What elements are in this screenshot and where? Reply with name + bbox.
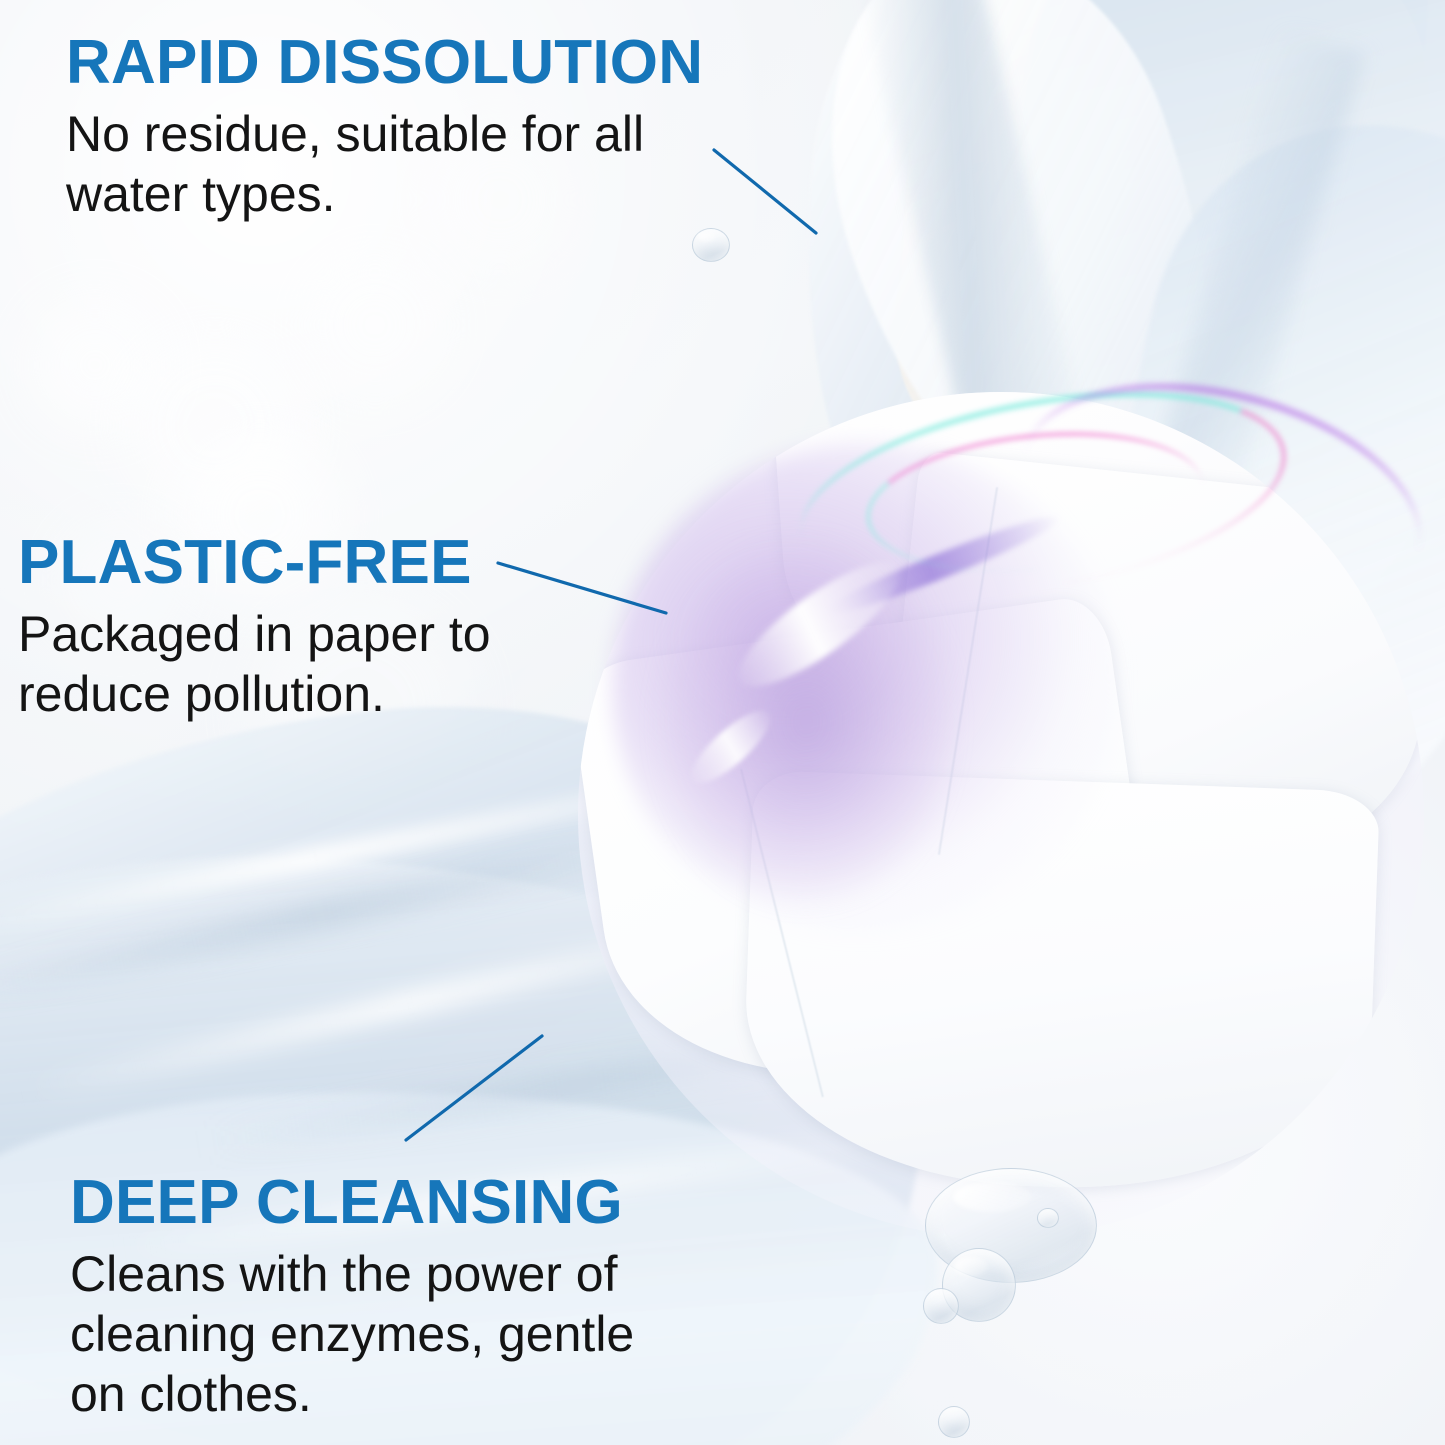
feature-block-plastic-free: PLASTIC-FREE Packaged in paper to reduce… bbox=[18, 532, 578, 724]
feature-body-deep-cleansing: Cleans with the power of cleaning enzyme… bbox=[70, 1244, 690, 1424]
feature-body-plastic-free: Packaged in paper to reduce pollution. bbox=[18, 604, 578, 724]
feature-heading-rapid-dissolution: RAPID DISSOLUTION bbox=[66, 32, 706, 94]
product-infographic-stage: RAPID DISSOLUTION No residue, suitable f… bbox=[0, 0, 1445, 1445]
water-droplet bbox=[923, 1288, 959, 1324]
feature-body-rapid-dissolution: No residue, suitable for all water types… bbox=[66, 104, 706, 224]
water-droplet bbox=[938, 1406, 970, 1438]
bubble-surface-effects bbox=[578, 392, 1424, 1238]
feature-block-rapid-dissolution: RAPID DISSOLUTION No residue, suitable f… bbox=[66, 32, 706, 224]
water-droplet bbox=[1037, 1208, 1059, 1228]
leader-line-rapid bbox=[714, 150, 816, 233]
feature-heading-plastic-free: PLASTIC-FREE bbox=[18, 532, 578, 594]
feature-block-deep-cleansing: DEEP CLEANSING Cleans with the power of … bbox=[70, 1172, 690, 1424]
water-droplet bbox=[692, 228, 730, 262]
feature-heading-deep-cleansing: DEEP CLEANSING bbox=[70, 1172, 690, 1234]
bokeh-circle bbox=[300, 250, 450, 400]
